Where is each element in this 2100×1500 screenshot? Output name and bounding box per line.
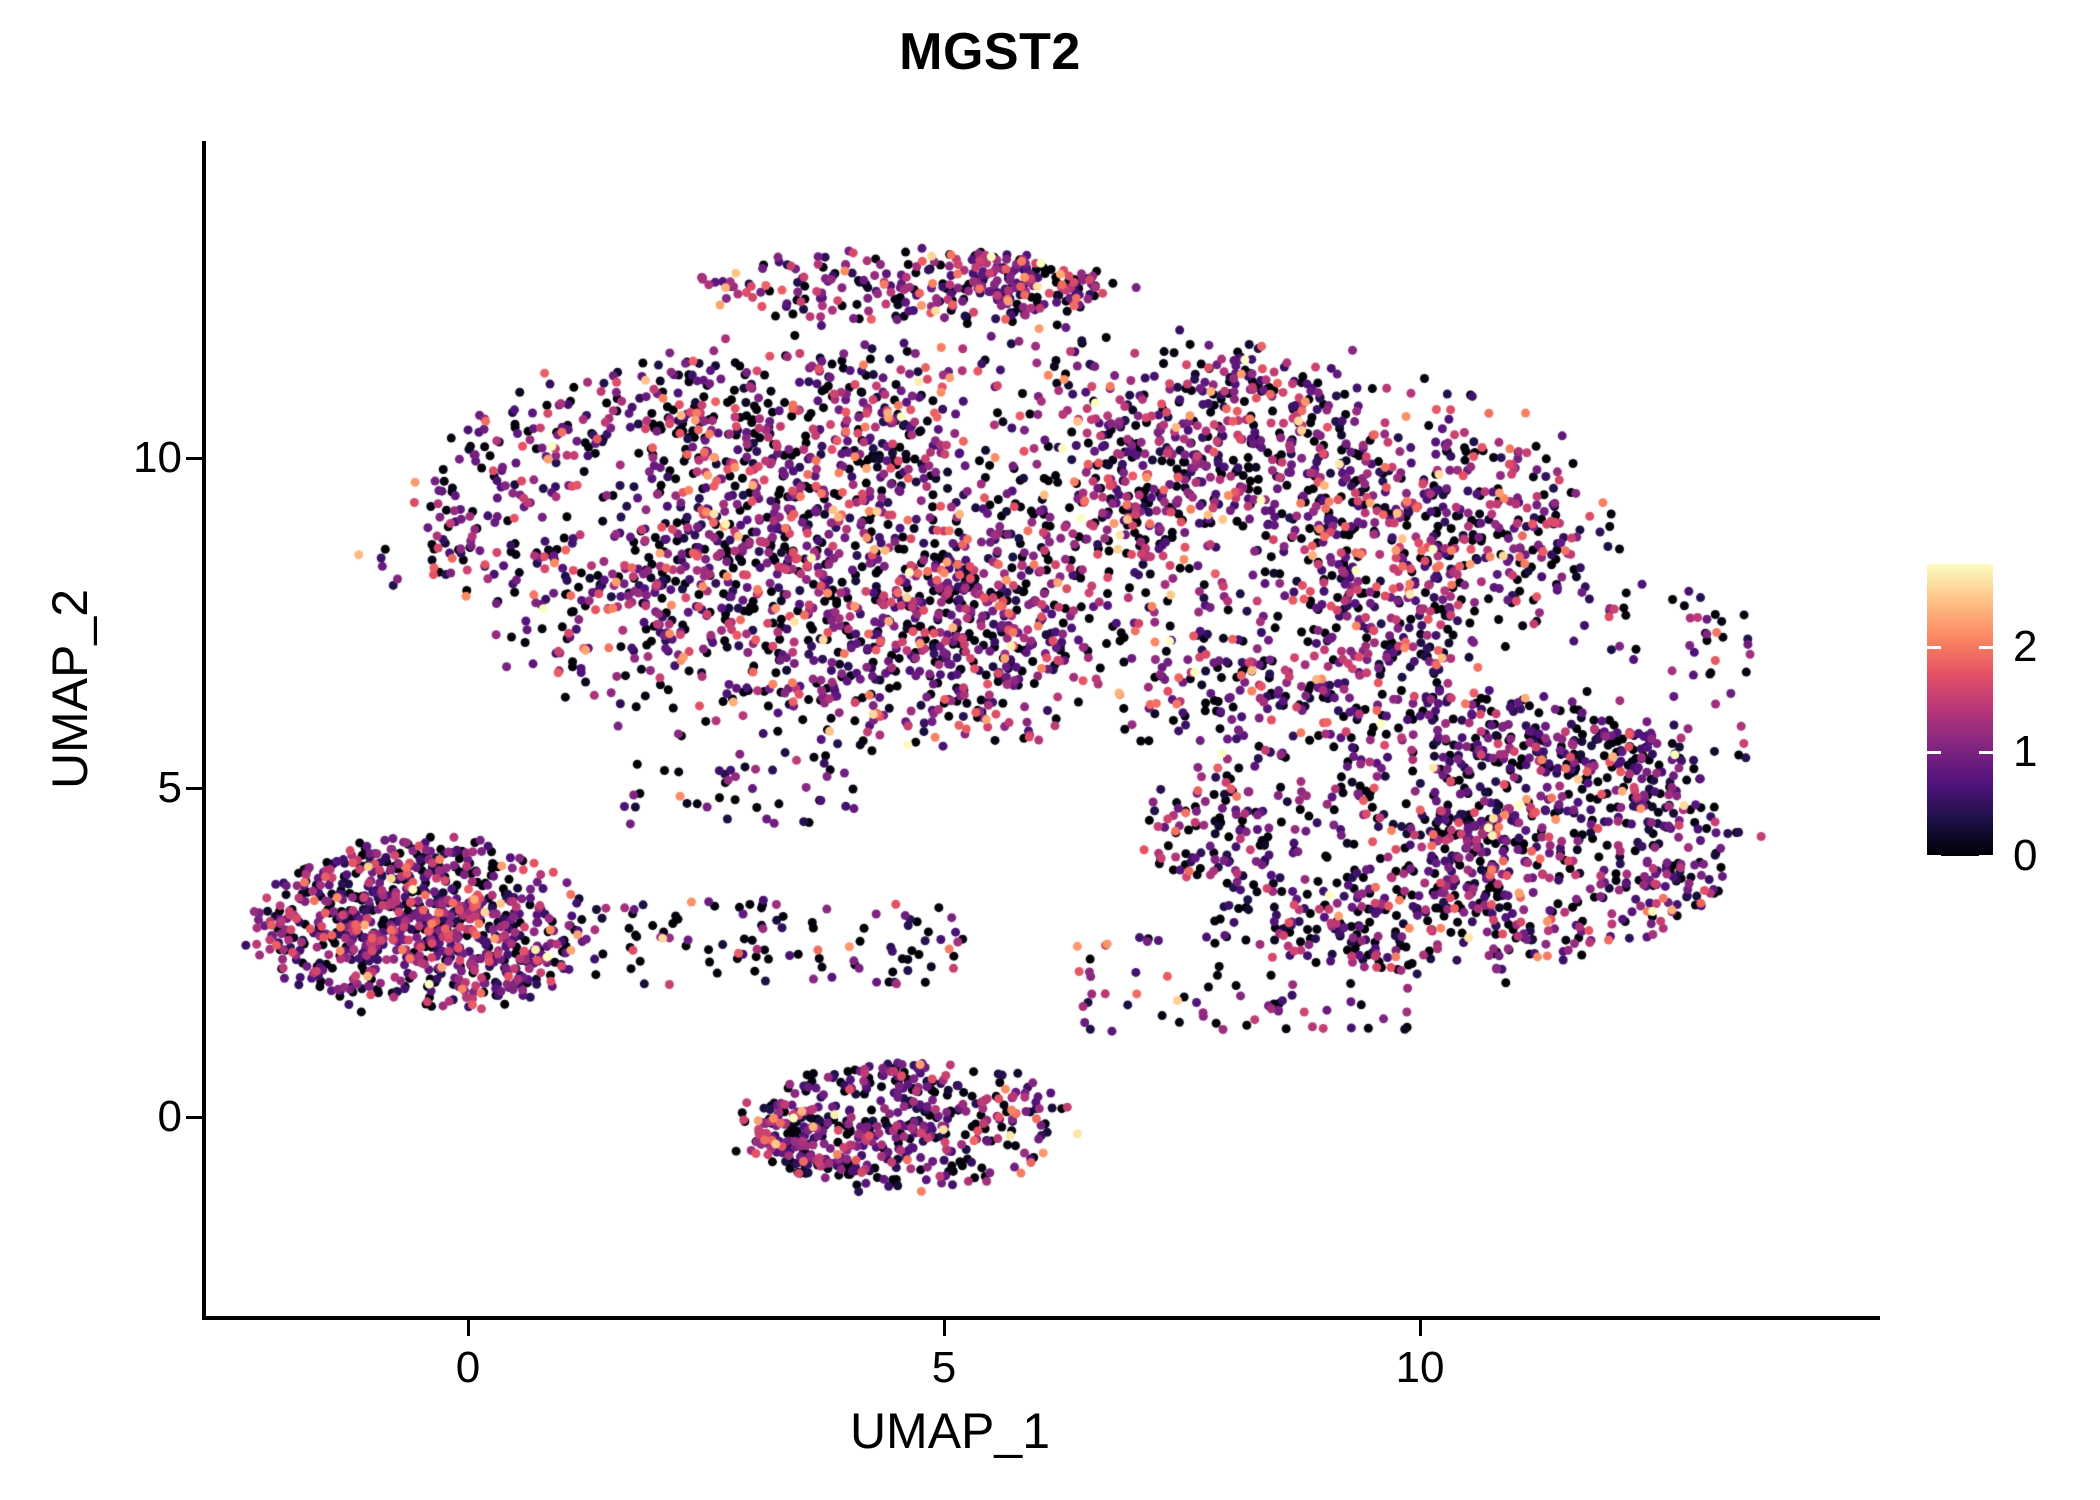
y-axis-line bbox=[202, 141, 206, 1320]
x-axis-line bbox=[202, 1316, 1880, 1320]
y-tick-mark bbox=[186, 457, 202, 460]
legend-tick-mark bbox=[1927, 646, 1941, 649]
x-tick-mark bbox=[943, 1320, 946, 1336]
legend-tick-mark bbox=[1979, 855, 1993, 858]
x-tick-mark bbox=[1419, 1320, 1422, 1336]
page-title: MGST2 bbox=[0, 22, 1980, 82]
plot-panel bbox=[204, 141, 1880, 1318]
y-axis-title: UMAP_2 bbox=[41, 289, 99, 1089]
x-tick-label: 0 bbox=[368, 1344, 568, 1392]
legend-colorbar bbox=[1927, 564, 1993, 856]
legend-tick-label: 2 bbox=[2013, 625, 2037, 669]
legend-tick-mark bbox=[1927, 855, 1941, 858]
legend-tick-mark bbox=[1979, 751, 1993, 754]
y-tick-mark bbox=[186, 787, 202, 790]
legend-tick-label: 0 bbox=[2013, 834, 2037, 878]
x-tick-label: 10 bbox=[1320, 1344, 1520, 1392]
legend-tick-label: 1 bbox=[2013, 730, 2037, 774]
y-tick-label: 10 bbox=[133, 436, 182, 480]
x-tick-label: 5 bbox=[844, 1344, 1044, 1392]
y-tick-mark bbox=[186, 1116, 202, 1119]
umap-feature-plot: MGST2 05100510 UMAP_1 UMAP_2 210 bbox=[0, 0, 2100, 1500]
legend-tick-mark bbox=[1927, 751, 1941, 754]
scatter-points-canvas bbox=[204, 141, 1880, 1318]
x-tick-mark bbox=[467, 1320, 470, 1336]
legend-tick-mark bbox=[1979, 646, 1993, 649]
y-tick-label: 5 bbox=[158, 766, 182, 810]
x-axis-title: UMAP_1 bbox=[0, 1402, 1900, 1460]
y-tick-label: 0 bbox=[158, 1095, 182, 1139]
